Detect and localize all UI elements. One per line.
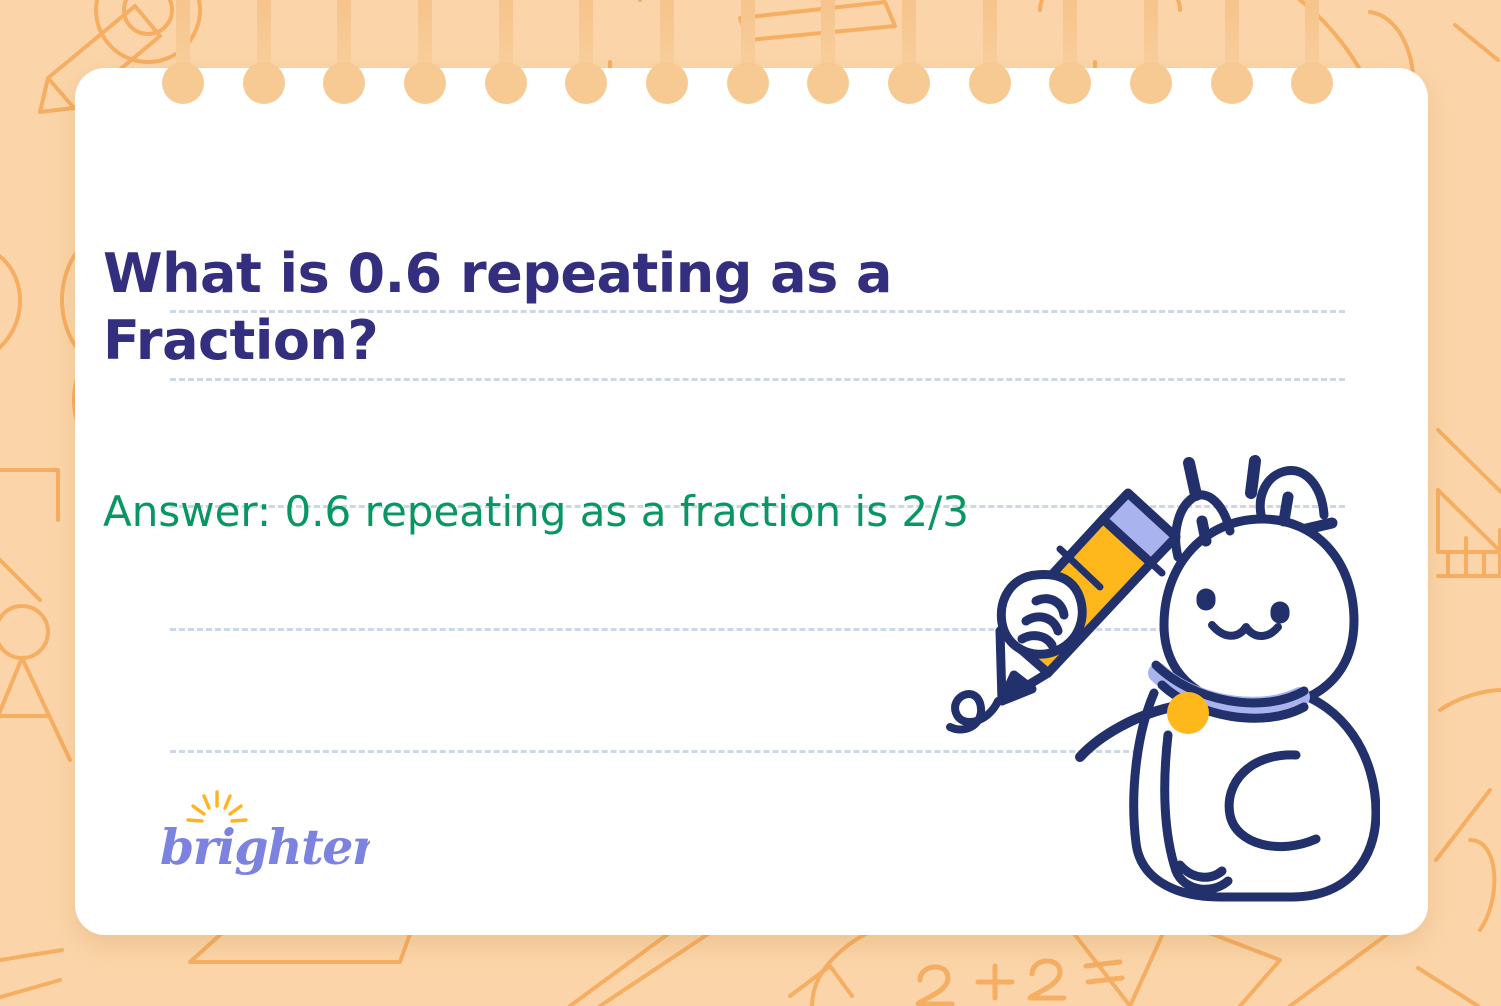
- sunburst-icon: [188, 792, 246, 821]
- collar-pendant: [1167, 692, 1209, 734]
- brighterly-logo-mark: brighterly: [160, 790, 370, 880]
- brighterly-logo[interactable]: brighterly Brighterly: [160, 790, 370, 870]
- brighterly-logo-text: Brighterly: [370, 790, 371, 791]
- notebook-card: What is 0.6 repeating as a Fraction? Ans…: [75, 68, 1428, 935]
- page-title: What is 0.6 repeating as a Fraction?: [103, 240, 1033, 374]
- svg-text:brighterly: brighterly: [160, 818, 370, 876]
- cat-with-pencil-illustration: [940, 435, 1380, 905]
- page-root: What is 0.6 repeating as a Fraction? Ans…: [0, 0, 1501, 1006]
- rule-line: [170, 378, 1345, 381]
